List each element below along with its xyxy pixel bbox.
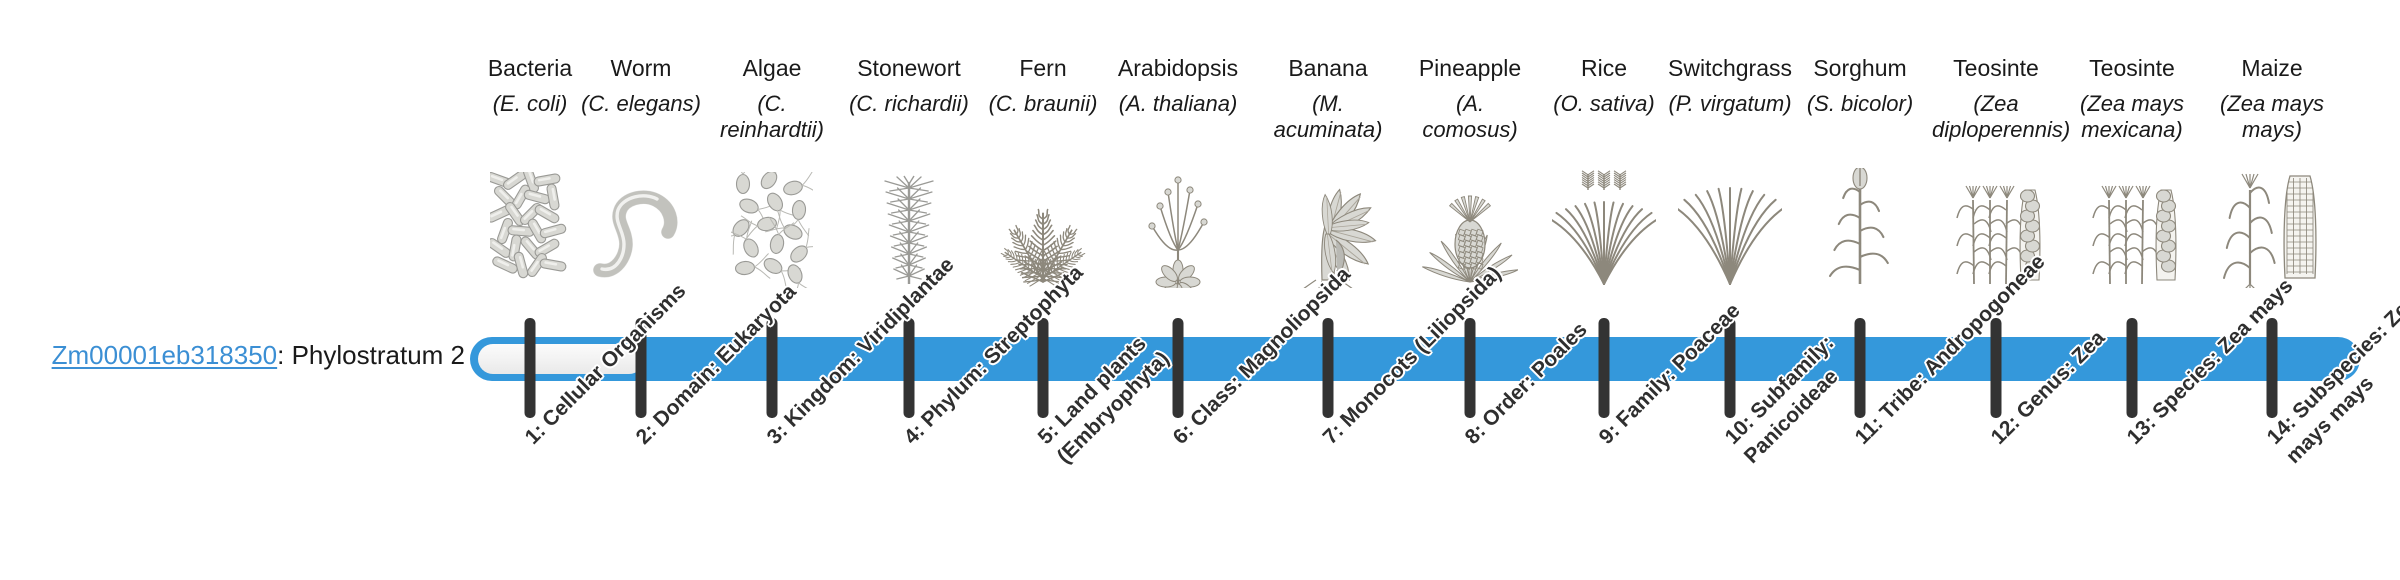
species-scientific-name: (C. braunii) (979, 91, 1107, 116)
species-scientific-name: (O. sativa) (1540, 91, 1668, 116)
species-column-4: Stonewort(C. richardii) (845, 55, 973, 117)
tick-4 (904, 318, 915, 418)
species-scientific-name: (P. virgatum) (1666, 91, 1794, 116)
gene-phylostratum-label: Zm00001eb318350: Phylostratum 2 (0, 340, 465, 371)
species-scientific-name: (A. thaliana) (1114, 91, 1242, 116)
tick-5 (1038, 318, 1049, 418)
species-column-8: Pineapple(A. comosus) (1406, 55, 1534, 142)
species-common-name: Teosinte (1932, 55, 2060, 81)
tick-8 (1465, 318, 1476, 418)
species-scientific-name: (E. coli) (466, 91, 594, 116)
species-column-13: Teosinte(Zea mays mexicana) (2068, 55, 2196, 142)
species-common-name: Arabidopsis (1114, 55, 1242, 81)
tick-3 (767, 318, 778, 418)
species-column-9: Rice(O. sativa) (1540, 55, 1668, 117)
species-column-2: Worm(C. elegans) (577, 55, 705, 117)
species-scientific-name: (C. reinhardtii) (708, 91, 836, 142)
species-scientific-name: (Zea mays mays) (2208, 91, 2336, 142)
species-common-name: Sorghum (1796, 55, 1924, 81)
species-column-11: Sorghum(S. bicolor) (1796, 55, 1924, 117)
species-common-name: Rice (1540, 55, 1668, 81)
gene-label-suffix: : Phylostratum 2 (277, 340, 465, 370)
species-column-7: Banana(M. acuminata) (1264, 55, 1392, 142)
species-scientific-name: (S. bicolor) (1796, 91, 1924, 116)
species-common-name: Maize (2208, 55, 2336, 81)
species-common-name: Worm (577, 55, 705, 81)
species-common-name: Banana (1264, 55, 1392, 81)
species-column-3: Algae(C. reinhardtii) (708, 55, 836, 142)
tick-14 (2267, 318, 2278, 418)
species-common-name: Teosinte (2068, 55, 2196, 81)
tick-13 (2127, 318, 2138, 418)
species-column-10: Switchgrass(P. virgatum) (1666, 55, 1794, 117)
species-scientific-name: (C. richardii) (845, 91, 973, 116)
species-scientific-name: (C. elegans) (577, 91, 705, 116)
species-common-name: Fern (979, 55, 1107, 81)
species-common-name: Algae (708, 55, 836, 81)
tick-1 (525, 318, 536, 418)
phylostratum-diagram: Zm00001eb318350: Phylostratum 2 Bacteria… (0, 0, 2400, 580)
tick-12 (1991, 318, 2002, 418)
species-scientific-name: (Zea mays mexicana) (2068, 91, 2196, 142)
gene-id-link[interactable]: Zm00001eb318350 (52, 340, 278, 370)
species-column-5: Fern(C. braunii) (979, 55, 1107, 117)
species-column-14: Maize(Zea mays mays) (2208, 55, 2336, 142)
species-scientific-name: (M. acuminata) (1264, 91, 1392, 142)
species-common-name: Switchgrass (1666, 55, 1794, 81)
tick-9 (1599, 318, 1610, 418)
species-scientific-name: (Zea diploperennis) (1932, 91, 2060, 142)
species-common-name: Bacteria (466, 55, 594, 81)
species-common-name: Pineapple (1406, 55, 1534, 81)
species-column-1: Bacteria(E. coli) (466, 55, 594, 117)
tick-7 (1323, 318, 1334, 418)
species-scientific-name: (A. comosus) (1406, 91, 1534, 142)
species-column-12: Teosinte(Zea diploperennis) (1932, 55, 2060, 142)
species-common-name: Stonewort (845, 55, 973, 81)
banana-plant-icon (1263, 168, 1393, 288)
species-column-6: Arabidopsis(A. thaliana) (1114, 55, 1242, 117)
